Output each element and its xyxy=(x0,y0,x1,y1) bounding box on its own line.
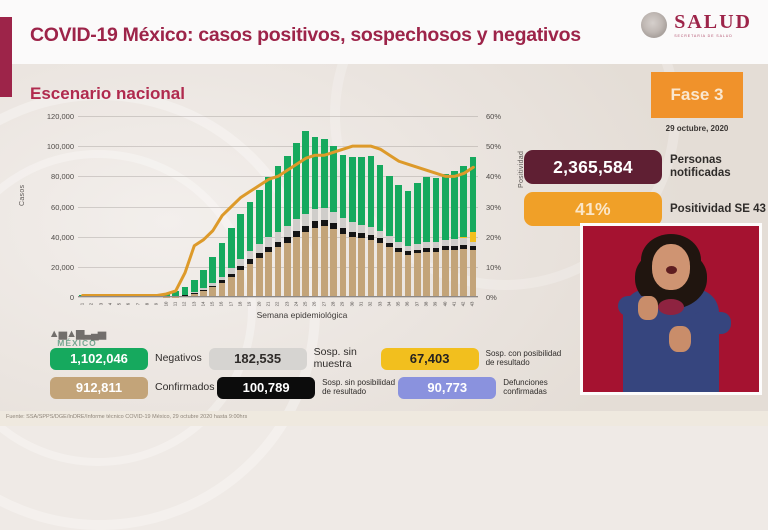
chart-y2-tick: 60% xyxy=(486,112,501,121)
video-frame xyxy=(583,226,759,392)
footer-band: Fuente: SSA/SPPS/DGE/InDRE/Informe técni… xyxy=(0,411,768,426)
legend-row: 1,102,046 Negativos 182,535 Sosp. sin mu… xyxy=(50,346,570,371)
chart-y-tick: 40,000 xyxy=(51,233,74,242)
salud-logo: SALUD SECRETARÍA DE SALUD xyxy=(641,12,752,39)
legend-label: Sosp. sin posibilidad de resultado xyxy=(322,379,398,397)
mexican-eagle-seal-icon xyxy=(641,12,667,38)
chart-y2-tick: 10% xyxy=(486,263,501,272)
chart-x-tick: 16 xyxy=(217,299,227,308)
legend-value: 182,535 xyxy=(209,348,307,370)
stat-personas-notificadas: 2,365,584 Personas notificadas xyxy=(524,150,768,184)
chart-x-tick: 22 xyxy=(273,299,283,308)
chart-x-tick: 6 xyxy=(124,299,134,308)
stat-value: 2,365,584 xyxy=(524,150,662,184)
legend-item-defunciones: 90,773 Defunciones confirmadas xyxy=(398,377,570,399)
chart-y2-tick: 0% xyxy=(486,293,497,302)
chart-y-axis-label: Casos xyxy=(19,185,26,206)
chart-x-tick: 36 xyxy=(403,299,413,308)
salud-logo-text: SALUD xyxy=(674,12,752,32)
chart-y-tick: 20,000 xyxy=(51,263,74,272)
chart-plot-area: 00%20,00010%40,00020%60,00030%80,00040%1… xyxy=(78,116,478,297)
legend-label: Confirmados xyxy=(155,382,215,394)
slide-root: COVID-19 México: casos positivos, sospec… xyxy=(0,0,768,426)
chart-x-tick: 26 xyxy=(310,299,320,308)
sign-language-interpreter-video[interactable] xyxy=(580,223,762,395)
chart-x-tick: 12 xyxy=(180,299,190,308)
page-title: COVID-19 México: casos positivos, sospec… xyxy=(30,24,581,47)
legend-item-sosp-con-posibilidad: 67,403 Sosp. con posibilidad de resultad… xyxy=(381,348,570,370)
legend-value: 1,102,046 xyxy=(50,348,148,370)
interpreter-hand-right xyxy=(669,326,691,352)
fecha-label: 29 octubre, 2020 xyxy=(651,124,743,133)
legend-label: Sosp. sin muestra xyxy=(314,347,381,370)
chart-y2-tick: 20% xyxy=(486,233,501,242)
legend-value: 100,789 xyxy=(217,377,315,399)
chart-y2-tick: 50% xyxy=(486,142,501,151)
chart-x-axis xyxy=(78,296,478,297)
chart-x-axis-title: Semana epidemiológica xyxy=(172,310,432,320)
legend-value: 67,403 xyxy=(381,348,479,370)
legend-value: 90,773 xyxy=(398,377,496,399)
salud-logo-subtext: SECRETARÍA DE SALUD xyxy=(674,35,752,39)
chart-y-tick: 100,000 xyxy=(47,142,74,151)
chart-x-tick: 32 xyxy=(366,299,376,308)
stat-positividad: 41% Positividad SE 43 xyxy=(524,192,766,226)
legend-value: 912,811 xyxy=(50,377,148,399)
positivity-line xyxy=(78,116,478,297)
chart-x-tick: 33 xyxy=(375,299,385,308)
legend-item-confirmados: 912,811 Confirmados xyxy=(50,377,217,399)
interpreter-necklace xyxy=(658,299,684,315)
mexico-silhouette-icon: ▲▅▲▆▃▄▅ xyxy=(46,330,108,338)
chart-x-tick: 19 xyxy=(245,299,255,308)
legend-label: Defunciones confirmadas xyxy=(503,379,570,397)
chart-gridline xyxy=(78,297,478,298)
interpreter-arm-right xyxy=(691,312,731,334)
chart-y-tick: 0 xyxy=(70,293,74,302)
interpreter-mouth xyxy=(666,266,677,274)
chart-x-tick: 9 xyxy=(152,299,162,308)
chart-x-tick: 39 xyxy=(431,299,441,308)
stat-value: 41% xyxy=(524,192,662,226)
chart-x-tick: 43 xyxy=(468,299,478,308)
legend-label: Negativos xyxy=(155,353,202,365)
chart-y2-tick: 40% xyxy=(486,172,501,181)
chart-y2-tick: 30% xyxy=(486,203,501,212)
footer-source-text: Fuente: SSA/SPPS/DGE/InDRE/Informe técni… xyxy=(6,414,247,420)
legend-item-negativos: 1,102,046 Negativos xyxy=(50,348,209,370)
stat-label: Personas notificadas xyxy=(670,154,768,180)
legend-row: 912,811 Confirmados 100,789 Sosp. sin po… xyxy=(50,375,570,400)
chart-y-tick: 120,000 xyxy=(47,112,74,121)
chart-y-tick: 80,000 xyxy=(51,172,74,181)
legend-label: Sosp. con posibilidad de resultado xyxy=(486,350,570,368)
covid-chart: Casos Positividad 00%20,00010%40,00020%6… xyxy=(22,110,522,325)
interpreter-hand-left xyxy=(638,296,658,320)
legend-item-sosp-sin-muestra: 182,535 Sosp. sin muestra xyxy=(209,347,381,370)
stat-label: Positividad SE 43 xyxy=(670,203,766,216)
chart-x-tick: 2 xyxy=(87,299,97,308)
chart-legend: 1,102,046 Negativos 182,535 Sosp. sin mu… xyxy=(50,346,570,404)
chart-x-tick: 29 xyxy=(338,299,348,308)
fase-badge: Fase 3 xyxy=(651,72,743,118)
chart-x-tick-labels: 1234567891011121314151617181920212223242… xyxy=(78,299,478,309)
legend-item-sosp-sin-posibilidad: 100,789 Sosp. sin posibilidad de resulta… xyxy=(217,377,398,399)
chart-y-tick: 60,000 xyxy=(51,203,74,212)
section-subtitle: Escenario nacional xyxy=(30,84,185,104)
left-accent-bar xyxy=(0,17,12,97)
